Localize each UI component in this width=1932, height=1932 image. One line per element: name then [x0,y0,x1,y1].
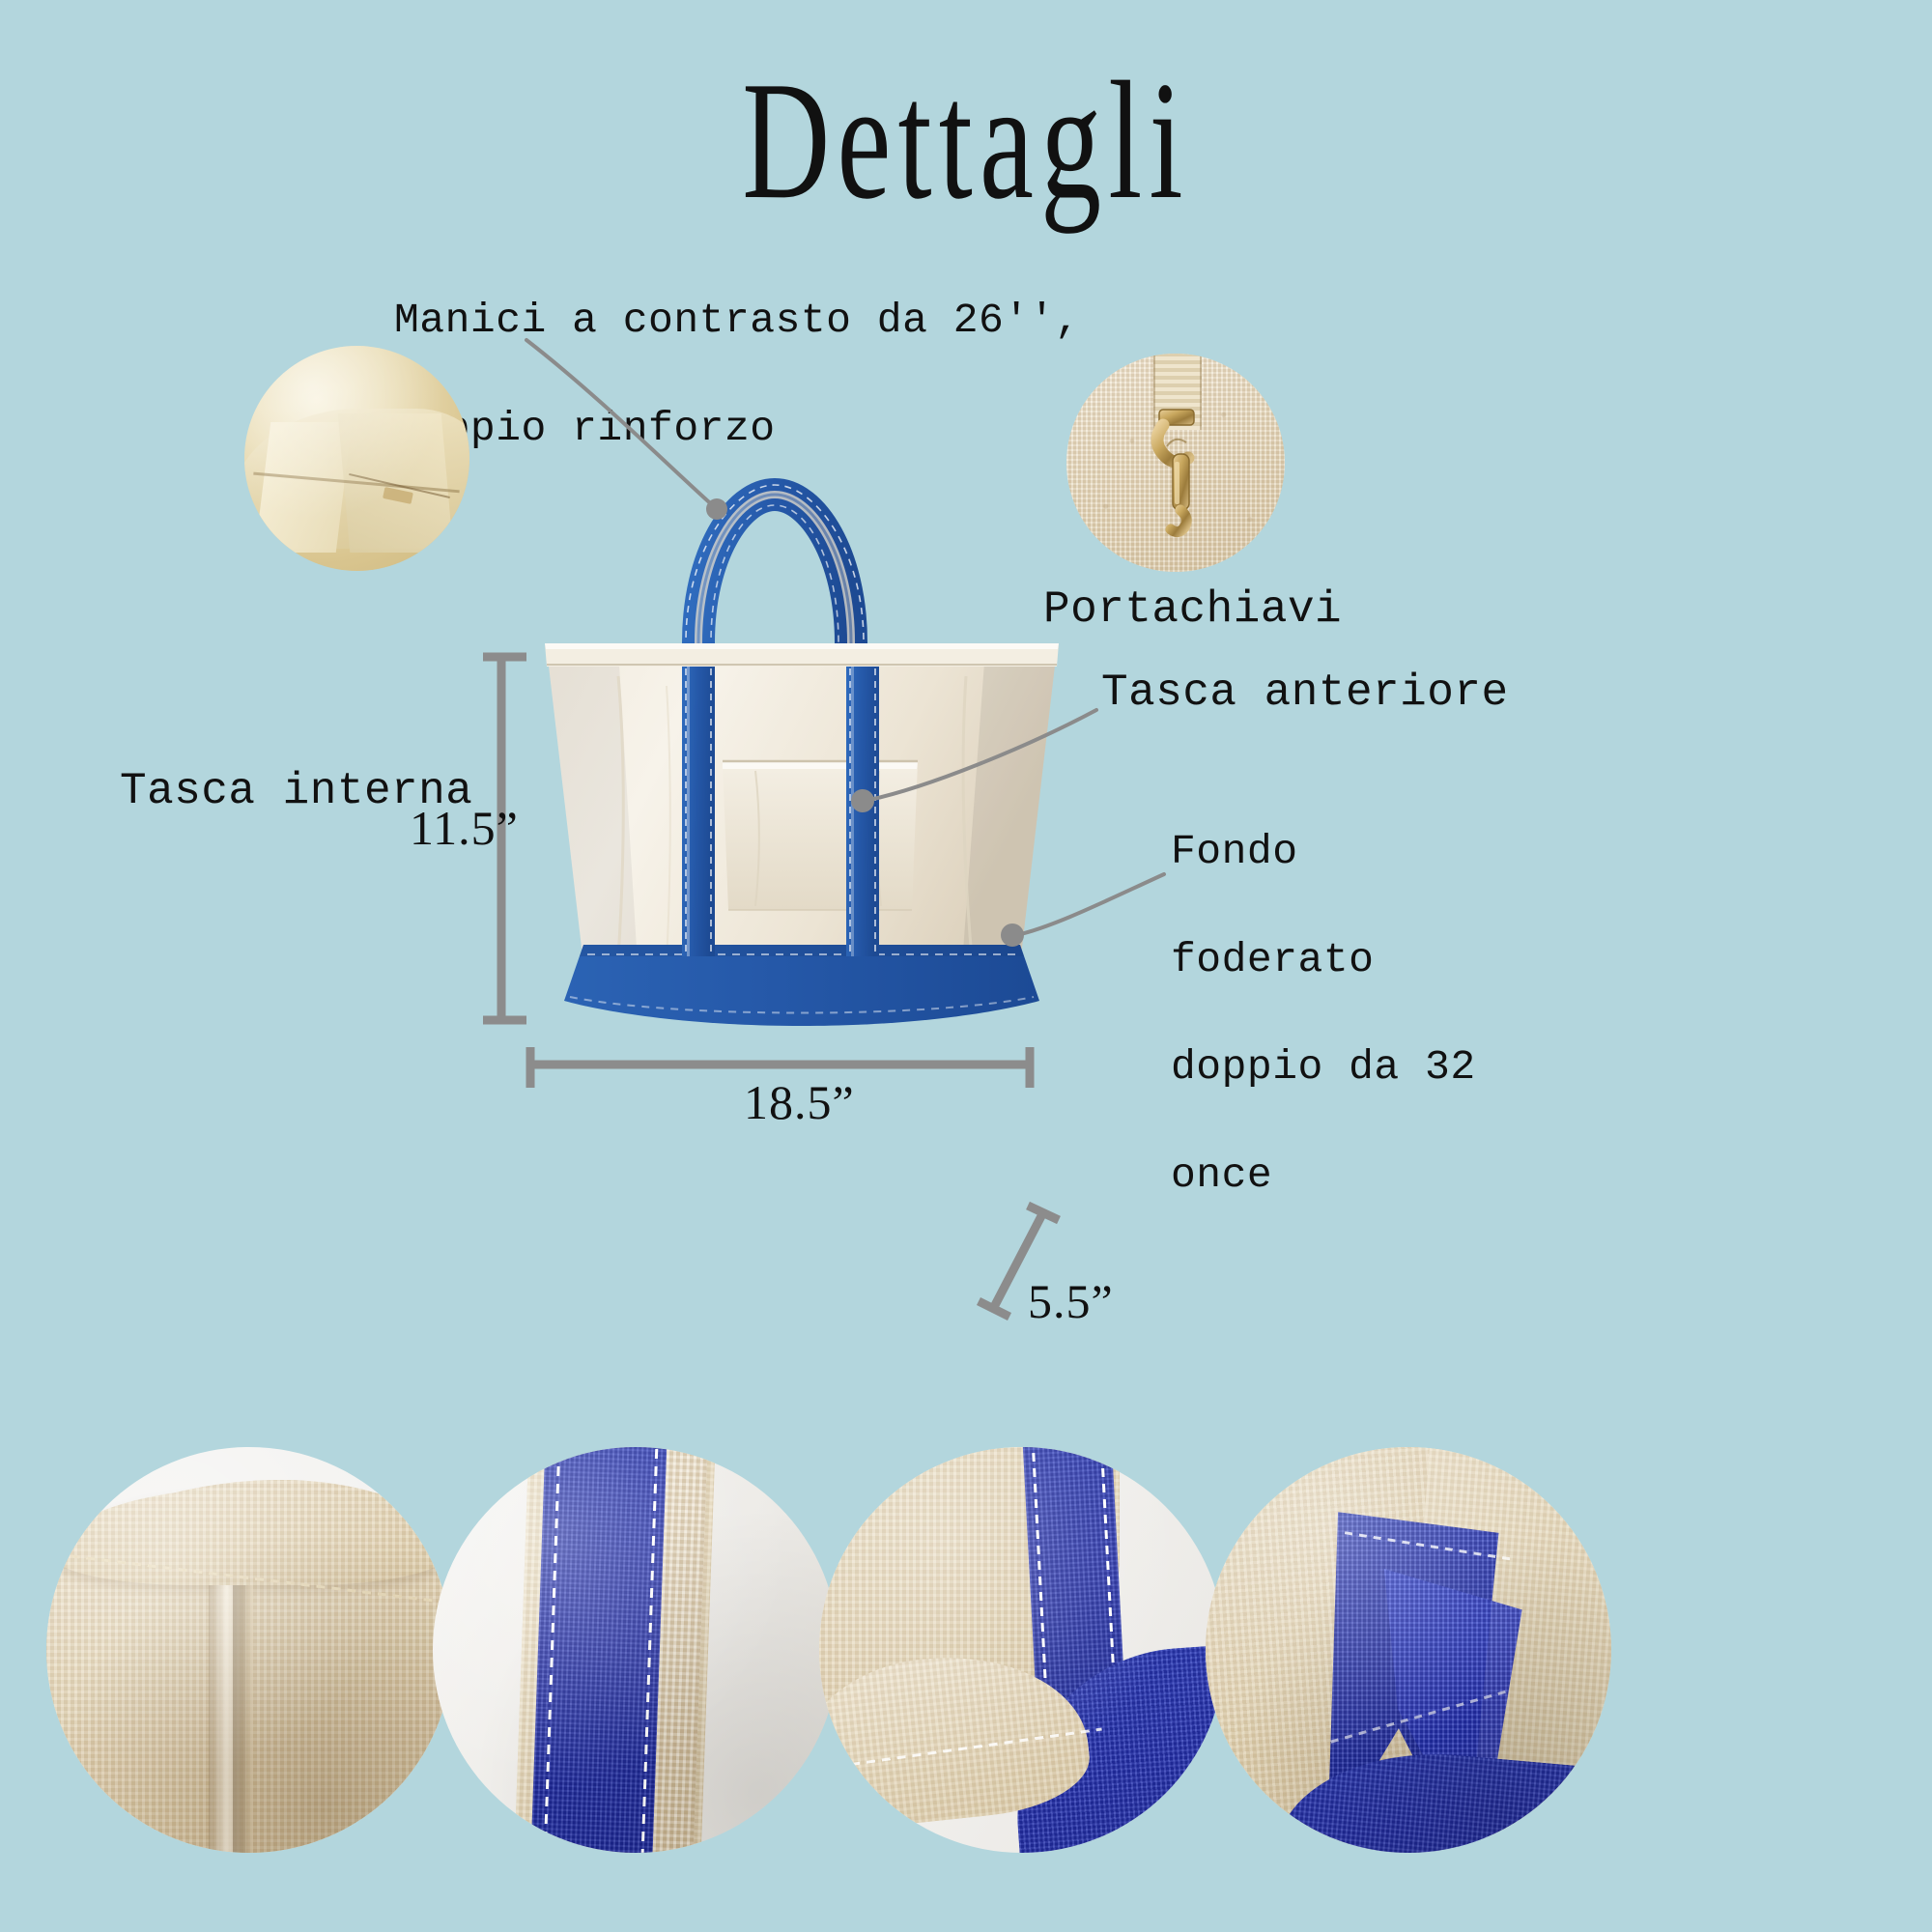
dimension-depth-label: 5.5” [1028,1273,1114,1329]
label-bottom-line4: once [1171,1149,1577,1203]
page-title: Dettagli [270,56,1662,225]
inner-pocket-photo [244,346,469,571]
annotation-handles-line1: Manici a contrasto da 26'', [394,294,1128,348]
dimension-height-label: 11.5” [410,800,519,856]
bottom-fold-photo [1206,1447,1611,1853]
label-front-pocket: Tasca anteriore [1101,665,1509,723]
dimension-width-label: 18.5” [744,1074,855,1130]
canvas-boat-tote [502,348,1101,1043]
label-bottom: Fondo foderato doppio da 32 once [1171,771,1577,1257]
gusset-seam-photo [46,1447,452,1853]
handle-webbing-photo [433,1447,838,1853]
label-bottom-line1: Fondo [1171,825,1577,879]
bottom-corner-photo [819,1447,1225,1853]
infographic-canvas: Dettagli Manici a contrasto da 26'', Dop… [0,0,1932,1932]
label-bottom-line3: doppio da 32 [1171,1040,1577,1094]
label-bottom-line2: foderato [1171,933,1577,987]
